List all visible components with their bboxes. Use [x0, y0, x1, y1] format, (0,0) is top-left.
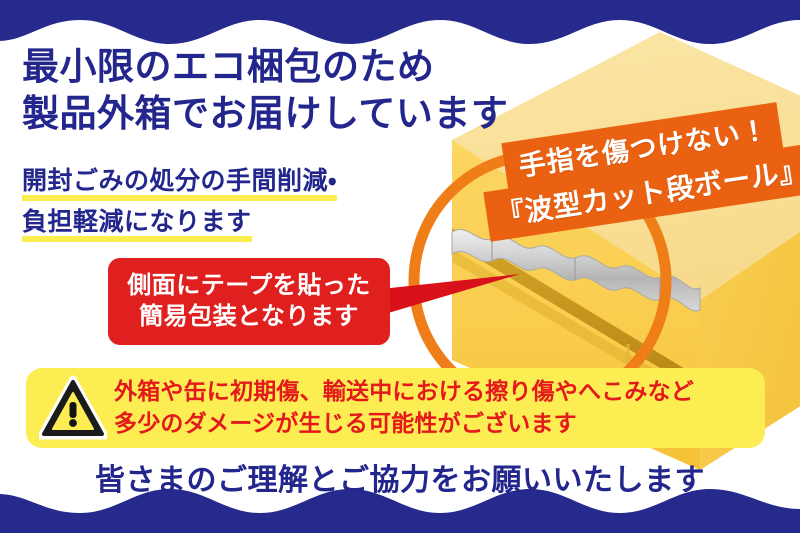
headline-line-2: 製品外箱でお届けしています	[22, 91, 508, 138]
damage-warning-line-1: 外箱や缶に初期傷、輸送中における擦り傷やへこみなど	[114, 376, 694, 408]
subtitle: 開封ごみの処分の手間削減・ 負担軽減になります	[22, 162, 337, 244]
damage-warning-line-2: 多少のダメージが生じる可能性がございます	[114, 408, 694, 440]
side-tape-callout: 側面にテープを貼った 簡易包装となります	[108, 258, 390, 345]
eco-packaging-notice-poster: 最小限のエコ梱包のため 製品外箱でお届けしています 開封ごみの処分の手間削減・ …	[0, 0, 800, 533]
damage-warning-panel: 外箱や缶に初期傷、輸送中における擦り傷やへこみなど 多少のダメージが生じる可能性…	[26, 368, 765, 448]
headline-line-1: 最小限のエコ梱包のため	[22, 44, 508, 91]
subtitle-line-1: 開封ごみの処分の手間削減・	[22, 162, 337, 203]
closing-message: 皆さまのご理解とご協力をお願いいたします	[0, 455, 800, 499]
subtitle-line-2: 負担軽減になります	[22, 203, 252, 244]
side-tape-callout-line-1: 側面にテープを貼った	[127, 271, 371, 302]
side-tape-callout-line-2: 簡易包装となります	[139, 302, 359, 333]
page-title: 最小限のエコ梱包のため 製品外箱でお届けしています	[22, 44, 508, 137]
warning-triangle-icon	[39, 374, 107, 442]
damage-warning-text: 外箱や缶に初期傷、輸送中における擦り傷やへこみなど 多少のダメージが生じる可能性…	[114, 376, 694, 439]
